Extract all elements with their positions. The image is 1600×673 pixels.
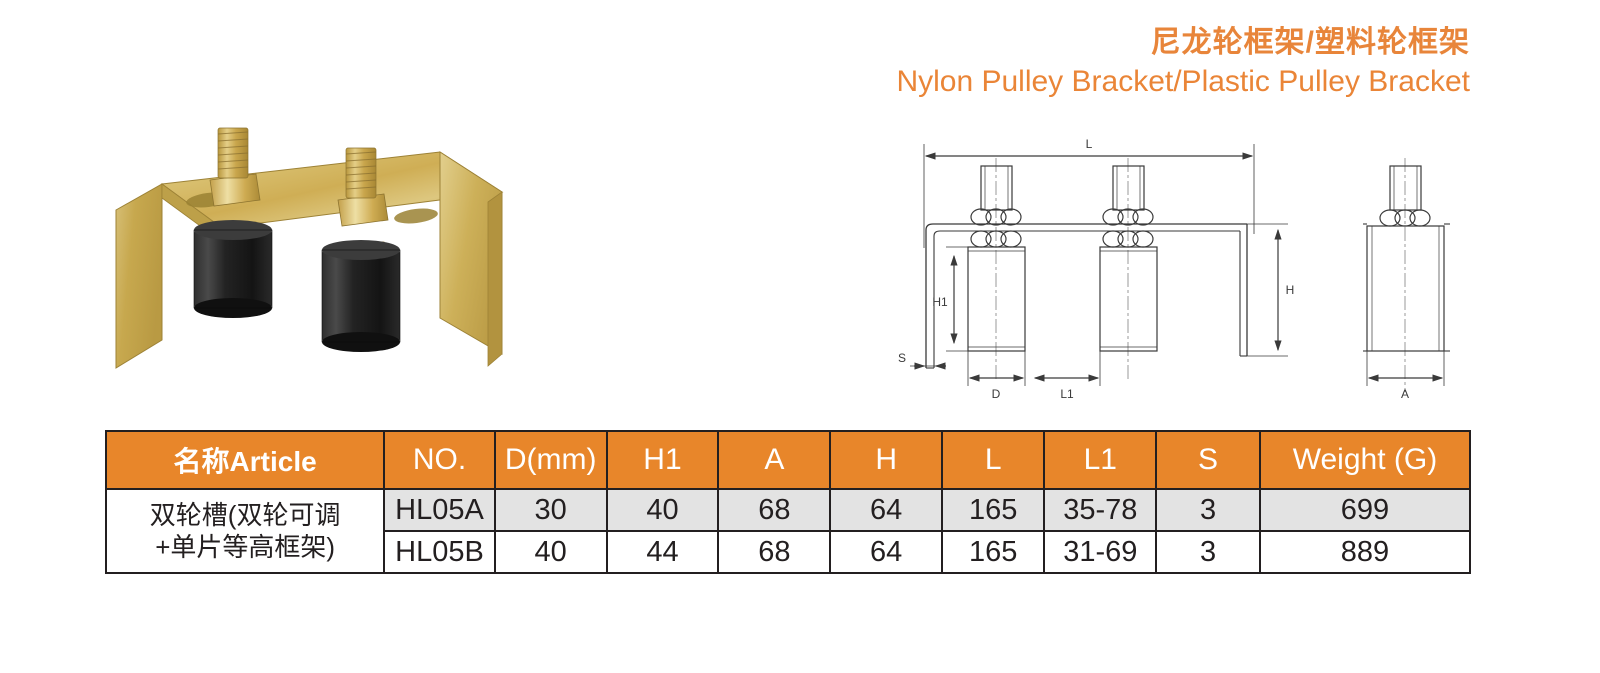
dim-label-L: L: [1086, 137, 1093, 151]
cell-d: 40: [495, 531, 607, 573]
article-name-cell: 双轮槽(双轮可调 +单片等高框架): [106, 489, 384, 573]
cell-l1: 35-78: [1044, 489, 1156, 531]
cell-h: 64: [830, 489, 942, 531]
dim-label-A: A: [1401, 387, 1409, 401]
column-header-a: A: [718, 431, 830, 489]
cell-l: 165: [942, 489, 1044, 531]
dim-label-H1: H1: [932, 295, 948, 309]
table-row: 双轮槽(双轮可调 +单片等高框架) HL05A 30 40 68 64 165 …: [106, 489, 1470, 531]
dim-label-D: D: [992, 387, 1001, 401]
dim-label-S: S: [898, 351, 906, 365]
cell-a: 68: [718, 531, 830, 573]
page-title-english: Nylon Pulley Bracket/Plastic Pulley Brac…: [896, 65, 1470, 98]
cell-l: 165: [942, 531, 1044, 573]
cell-a: 68: [718, 489, 830, 531]
title-block: 尼龙轮框架/塑料轮框架 Nylon Pulley Bracket/Plastic…: [896, 26, 1470, 98]
specification-table: 名称Article NO. D(mm) H1 A H L L1 S Weight…: [105, 430, 1471, 574]
technical-drawing: L: [880, 130, 1500, 415]
cell-h1: 40: [607, 489, 719, 531]
cell-s: 3: [1156, 489, 1260, 531]
column-header-s: S: [1156, 431, 1260, 489]
cell-l1: 31-69: [1044, 531, 1156, 573]
cell-no: HL05B: [384, 531, 494, 573]
cell-h: 64: [830, 531, 942, 573]
article-name-line2: +单片等高框架): [113, 531, 377, 564]
spec-table-container: 名称Article NO. D(mm) H1 A H L L1 S Weight…: [105, 430, 1471, 574]
column-header-d: D(mm): [495, 431, 607, 489]
column-header-l1: L1: [1044, 431, 1156, 489]
cell-h1: 44: [607, 531, 719, 573]
cell-no: HL05A: [384, 489, 494, 531]
column-header-no: NO.: [384, 431, 494, 489]
cell-d: 30: [495, 489, 607, 531]
cell-weight: 699: [1260, 489, 1470, 531]
column-header-l: L: [942, 431, 1044, 489]
page-title-chinese: 尼龙轮框架/塑料轮框架: [896, 26, 1470, 59]
table-header-row: 名称Article NO. D(mm) H1 A H L L1 S Weight…: [106, 431, 1470, 489]
column-header-h1: H1: [607, 431, 719, 489]
column-header-article: 名称Article: [106, 431, 384, 489]
dim-label-H: H: [1286, 283, 1295, 297]
column-header-h: H: [830, 431, 942, 489]
column-header-weight: Weight (G): [1260, 431, 1470, 489]
cell-s: 3: [1156, 531, 1260, 573]
cell-weight: 889: [1260, 531, 1470, 573]
dim-label-L1: L1: [1060, 387, 1074, 401]
article-name-line1: 双轮槽(双轮可调: [113, 499, 377, 532]
product-photo: [110, 118, 510, 413]
